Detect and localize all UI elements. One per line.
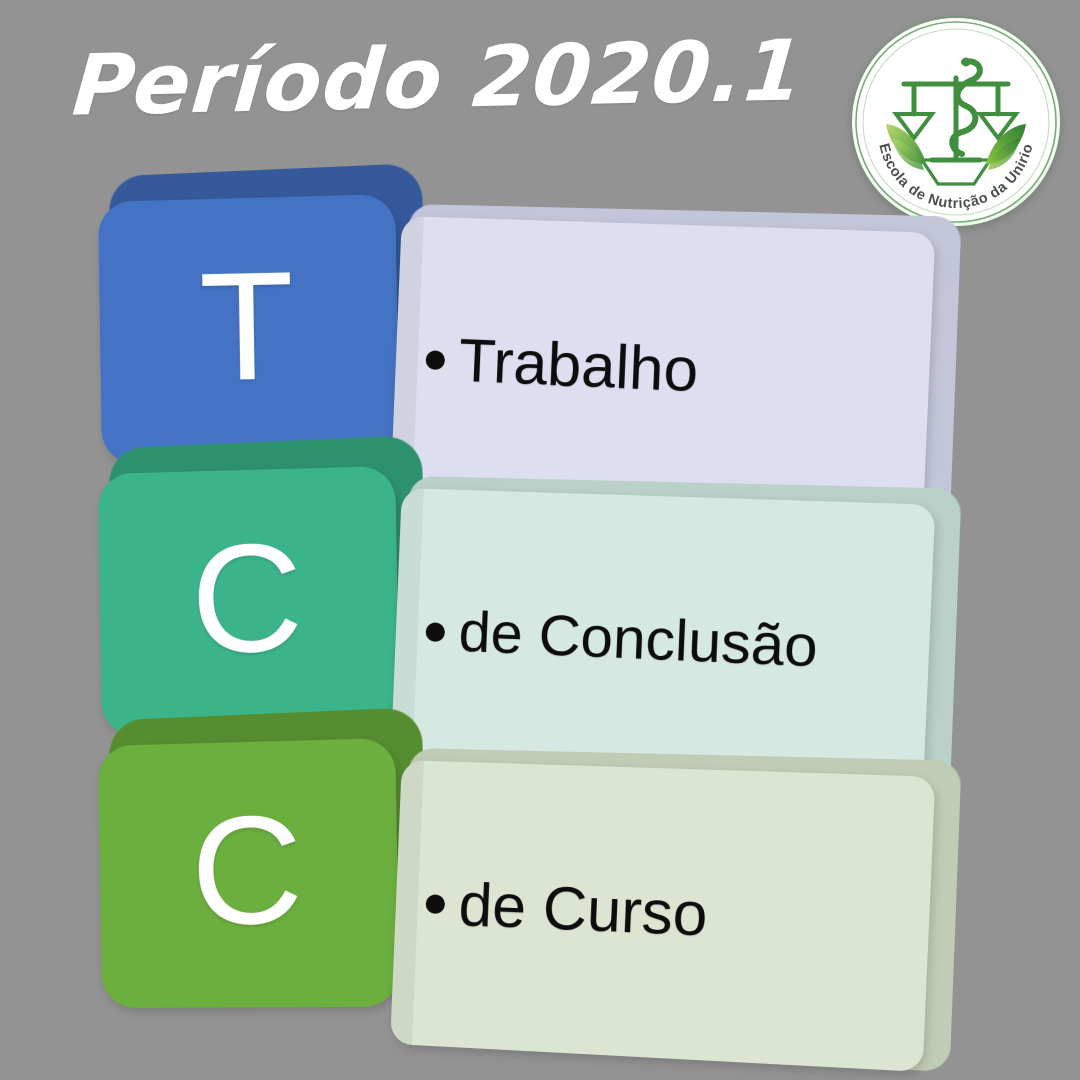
tile-letter-label: C	[190, 792, 304, 948]
panel-label: de Conclusão	[458, 602, 819, 680]
diagram-row[interactable]: C de Curso	[0, 712, 1080, 1042]
bullet-icon	[425, 623, 445, 643]
letter-tile[interactable]: T	[98, 194, 400, 464]
panel-label: Trabalho	[457, 328, 699, 404]
letter-tile[interactable]: C	[98, 466, 400, 736]
slide-canvas: Período 2020.1	[0, 0, 1080, 1080]
bullet-icon	[425, 895, 445, 915]
bullet-icon	[425, 351, 445, 371]
tile-letter-label: T	[198, 249, 295, 404]
tile-letter-label: C	[190, 520, 304, 676]
panel-label: de Curso	[457, 872, 708, 948]
text-panel[interactable]: de Curso	[390, 760, 935, 1072]
letter-tile[interactable]: C	[98, 738, 400, 1008]
page-title: Período 2020.1	[70, 28, 808, 127]
